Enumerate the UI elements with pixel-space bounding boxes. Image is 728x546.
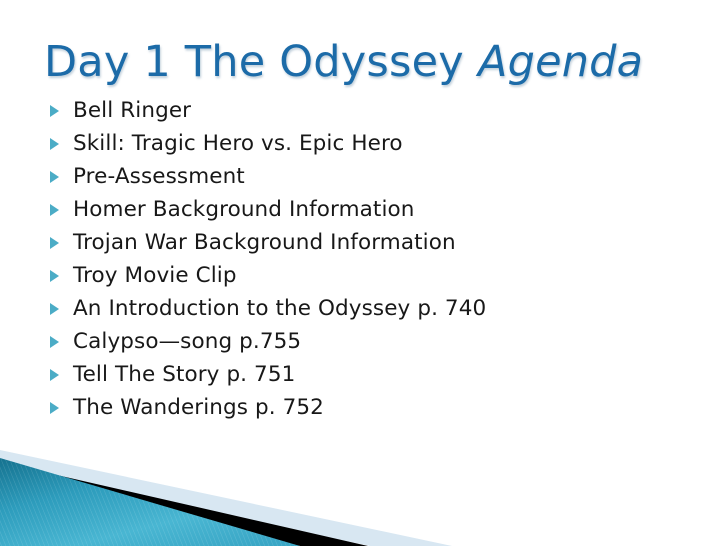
triangle-bullet-icon — [50, 303, 59, 315]
triangle-bullet-icon — [50, 237, 59, 249]
slide-canvas: Day 1 The OdysseyAgenda Bell Ringer Skil… — [0, 0, 728, 546]
list-item: Tell The Story p. 751 — [46, 358, 686, 391]
black-band — [0, 462, 368, 546]
list-item-label: Bell Ringer — [73, 98, 191, 123]
triangle-bullet-icon — [50, 270, 59, 282]
list-item: Calypso—song p.755 — [46, 325, 686, 358]
triangle-bullet-icon — [50, 105, 59, 117]
page-title: Day 1 The OdysseyAgenda — [44, 36, 704, 88]
list-item: Skill: Tragic Hero vs. Epic Hero — [46, 127, 686, 160]
list-item: Pre-Assessment — [46, 160, 686, 193]
list-item: Troy Movie Clip — [46, 259, 686, 292]
triangle-bullet-icon — [50, 204, 59, 216]
title-main-text: Day 1 The Odyssey — [44, 37, 464, 87]
list-item-label: Homer Background Information — [73, 197, 415, 222]
list-item: An Introduction to the Odyssey p. 740 — [46, 292, 686, 325]
list-item-label: Troy Movie Clip — [73, 263, 237, 288]
list-item: The Wanderings p. 752 — [46, 391, 686, 424]
list-item-label: Tell The Story p. 751 — [73, 362, 295, 387]
triangle-bullet-icon — [50, 369, 59, 381]
list-item: Homer Background Information — [46, 193, 686, 226]
teal-wedge — [0, 458, 300, 546]
pale-blue-band — [0, 450, 452, 546]
list-item-label: Calypso—song p.755 — [73, 329, 301, 354]
list-item: Trojan War Background Information — [46, 226, 686, 259]
list-item: Bell Ringer — [46, 94, 686, 127]
triangle-bullet-icon — [50, 138, 59, 150]
triangle-bullet-icon — [50, 336, 59, 348]
list-item-label: An Introduction to the Odyssey p. 740 — [73, 296, 486, 321]
triangle-bullet-icon — [50, 402, 59, 414]
list-item-label: The Wanderings p. 752 — [73, 395, 324, 420]
title-accent-text: Agenda — [478, 37, 643, 87]
list-item-label: Pre-Assessment — [73, 164, 245, 189]
list-item-label: Trojan War Background Information — [73, 230, 456, 255]
list-item-label: Skill: Tragic Hero vs. Epic Hero — [73, 131, 403, 156]
corner-decoration-graphic — [0, 436, 470, 546]
triangle-bullet-icon — [50, 171, 59, 183]
agenda-list: Bell Ringer Skill: Tragic Hero vs. Epic … — [46, 94, 686, 424]
